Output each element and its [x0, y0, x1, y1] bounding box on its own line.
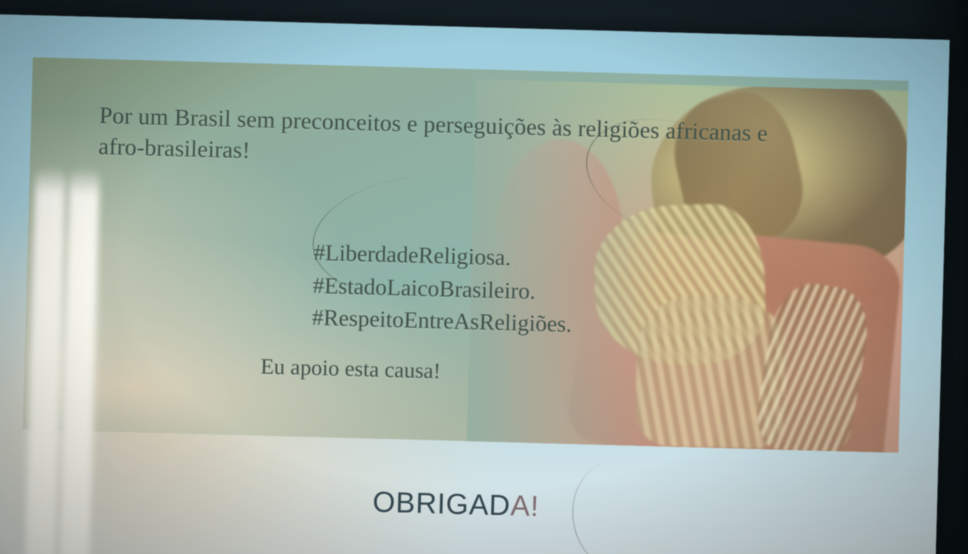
slide-content-panel: Por um Brasil sem preconceitos e persegu…	[23, 57, 909, 453]
screenshot-stage: Por um Brasil sem preconceitos e persegu…	[0, 0, 968, 554]
screen-surface: Por um Brasil sem preconceitos e persegu…	[0, 14, 950, 554]
slide-thanks-accent: A!	[510, 490, 539, 523]
slide-thanks-main: OBRIGAD	[372, 487, 511, 523]
slide-hashtags: #LiberdadeReligiosa. #EstadoLaicoBrasile…	[311, 237, 574, 342]
projection-screen: Por um Brasil sem preconceitos e persegu…	[0, 14, 950, 554]
slide-support-line: Eu apoio esta causa!	[260, 354, 441, 385]
